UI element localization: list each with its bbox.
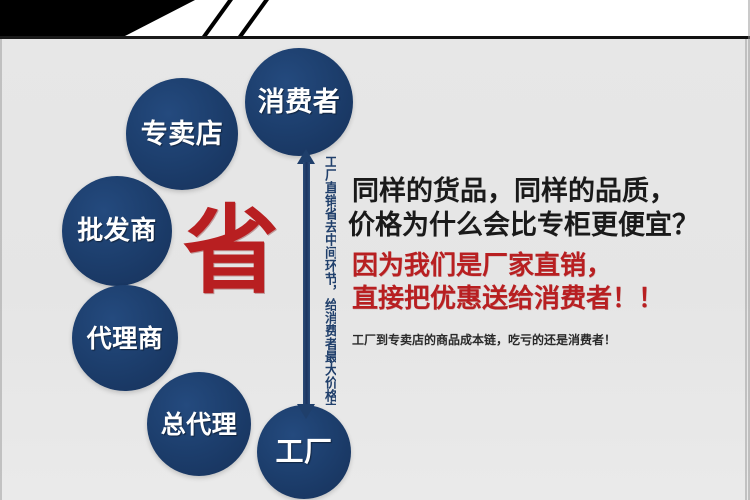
save-character: 省 [183, 203, 279, 299]
headline-line-1: 同样的货品，同样的品质， [352, 175, 699, 209]
chain-node-head-agent: 总代理 [147, 372, 251, 476]
arrow-head-down-icon [297, 404, 315, 419]
subheadline-block: 因为我们是厂家直销， 直接把优惠送给消费者！！ [352, 250, 664, 317]
chain-node-store: 专卖店 [126, 78, 238, 190]
chain-node-agent: 代理商 [72, 285, 178, 391]
subheadline-line-1: 因为我们是厂家直销， [352, 250, 664, 283]
chain-node-consumer: 消费者 [245, 48, 353, 156]
chain-node-agent-label: 代理商 [87, 326, 164, 351]
chain-node-factory: 工厂 [257, 405, 351, 499]
arrow-shaft [303, 162, 310, 408]
footnote-text: 工厂到专卖店的商品成本链，吃亏的还是消费者！ [352, 331, 616, 348]
chain-node-head-agent-label: 总代理 [161, 412, 238, 437]
banner-diagonal-stripe-1 [202, 0, 238, 36]
left-edge-line [0, 39, 2, 500]
chain-node-wholesaler-label: 批发商 [77, 218, 157, 244]
promo-banner-canvas: 消费者 专卖店 批发商 代理商 总代理 工厂 省 工厂直销省去中间环节，给消费者… [0, 0, 750, 500]
subheadline-line-2: 直接把优惠送给消费者！！ [352, 283, 664, 316]
chain-node-wholesaler: 批发商 [62, 176, 172, 286]
chain-node-store-label: 专卖店 [141, 121, 224, 148]
right-edge-line [745, 39, 747, 500]
arrow-caption: 工厂直销省去中间环节，给消费者最大价格空间！ [314, 155, 336, 405]
banner-black-shape [0, 0, 260, 36]
chain-node-factory-label: 工厂 [275, 438, 332, 466]
headline-line-2: 价格为什么会比专柜更便宜？ [348, 209, 699, 243]
headline-block: 同样的货品，同样的品质， 价格为什么会比专柜更便宜？ [352, 175, 699, 243]
top-banner [0, 0, 750, 36]
chain-node-consumer-label: 消费者 [258, 89, 341, 116]
banner-diagonal-stripe-2 [238, 0, 274, 36]
